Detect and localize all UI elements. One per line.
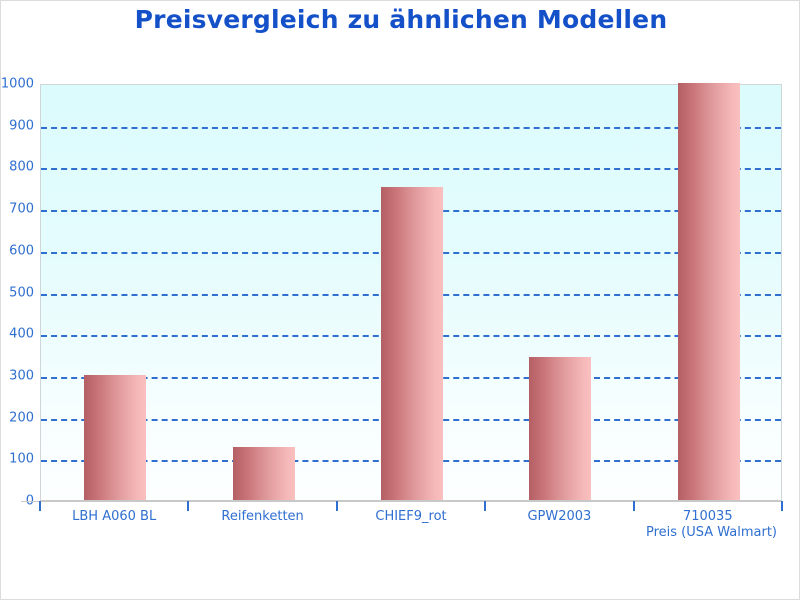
bar-series	[41, 85, 781, 500]
chart-page: Preisvergleich zu ähnlichen Modellen 010…	[0, 0, 800, 600]
y-axis-tick-label: 100	[9, 452, 34, 467]
page-title: Preisvergleich zu ähnlichen Modellen	[1, 5, 800, 34]
bar	[233, 447, 295, 500]
bar	[84, 375, 146, 500]
y-axis-tick-label: 600	[9, 243, 34, 258]
x-axis-tick-label: 710035	[683, 509, 733, 524]
y-axis-tick-label: 300	[9, 368, 34, 383]
x-axis-tick-label: LBH A060 BL	[72, 509, 156, 524]
bar	[678, 83, 740, 500]
bar	[381, 187, 443, 500]
y-axis-tick-label: 400	[9, 327, 34, 342]
y-axis-tick-label: 200	[9, 410, 34, 425]
bar	[529, 357, 591, 500]
x-axis-title: Preis (USA Walmart)	[646, 525, 777, 540]
y-axis-labels: 01002003004005006007008009001000	[1, 84, 34, 501]
x-axis-tick-label: GPW2003	[527, 509, 591, 524]
y-axis-tick-label: 1000	[1, 77, 34, 92]
y-axis-tick-label: 500	[9, 285, 34, 300]
x-axis-tick-label: CHIEF9_rot	[375, 509, 446, 524]
y-axis-tick-label: 800	[9, 160, 34, 175]
y-axis-tick-label: 700	[9, 202, 34, 217]
x-axis-tick-label: Reifenketten	[221, 509, 303, 524]
y-axis-tick-label: 900	[9, 118, 34, 133]
plot-area	[40, 84, 782, 501]
